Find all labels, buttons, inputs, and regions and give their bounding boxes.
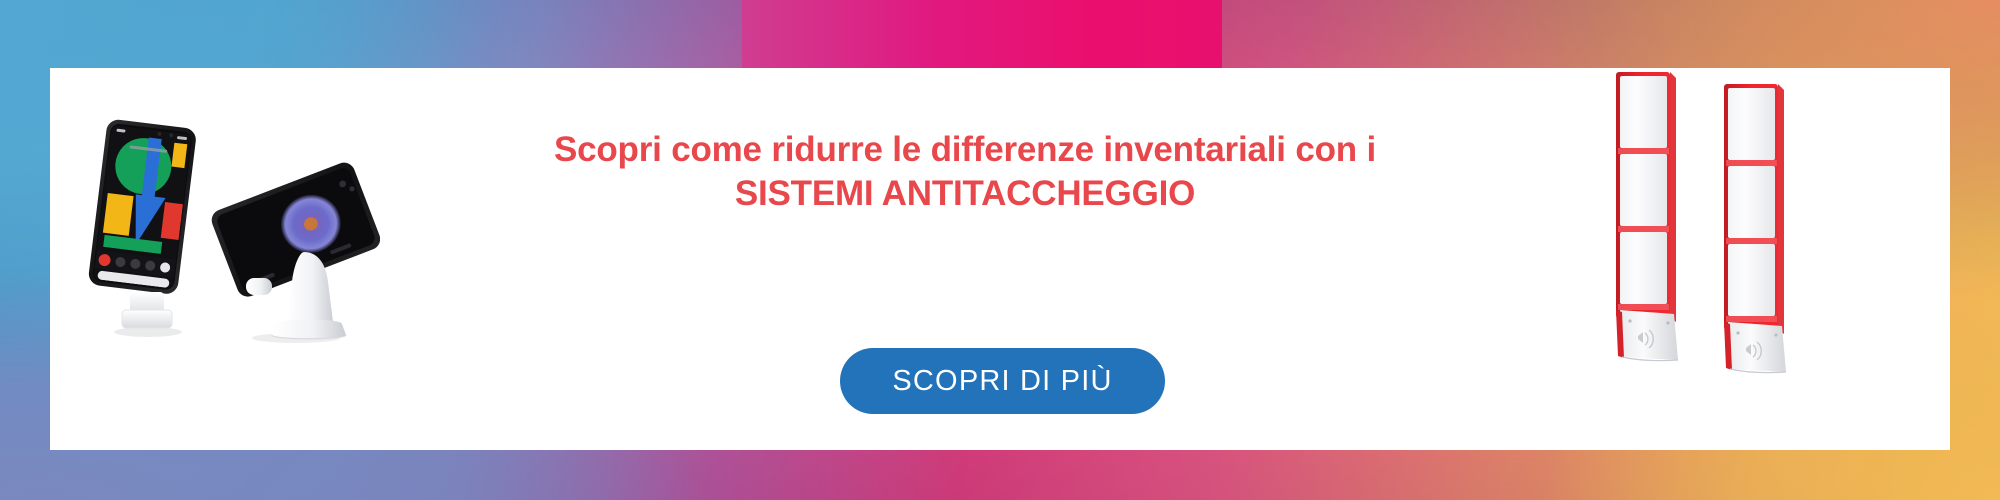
discover-more-button[interactable]: SCOPRI DI PIÙ bbox=[840, 348, 1165, 414]
promotional-banner: Scopri come ridurre le differenze invent… bbox=[0, 0, 2000, 500]
banner-headline: Scopri come ridurre le differenze invent… bbox=[430, 128, 1500, 216]
tablet-display-stand-image bbox=[200, 160, 380, 345]
smartphone-display-stand-image bbox=[78, 110, 218, 340]
antitheft-gate-pedestal-left-image bbox=[1612, 68, 1692, 363]
headline-line-1: Scopri come ridurre le differenze invent… bbox=[430, 128, 1500, 172]
antitheft-gate-pedestal-right-image bbox=[1720, 80, 1800, 375]
headline-line-2: SISTEMI ANTITACCHEGGIO bbox=[430, 172, 1500, 216]
